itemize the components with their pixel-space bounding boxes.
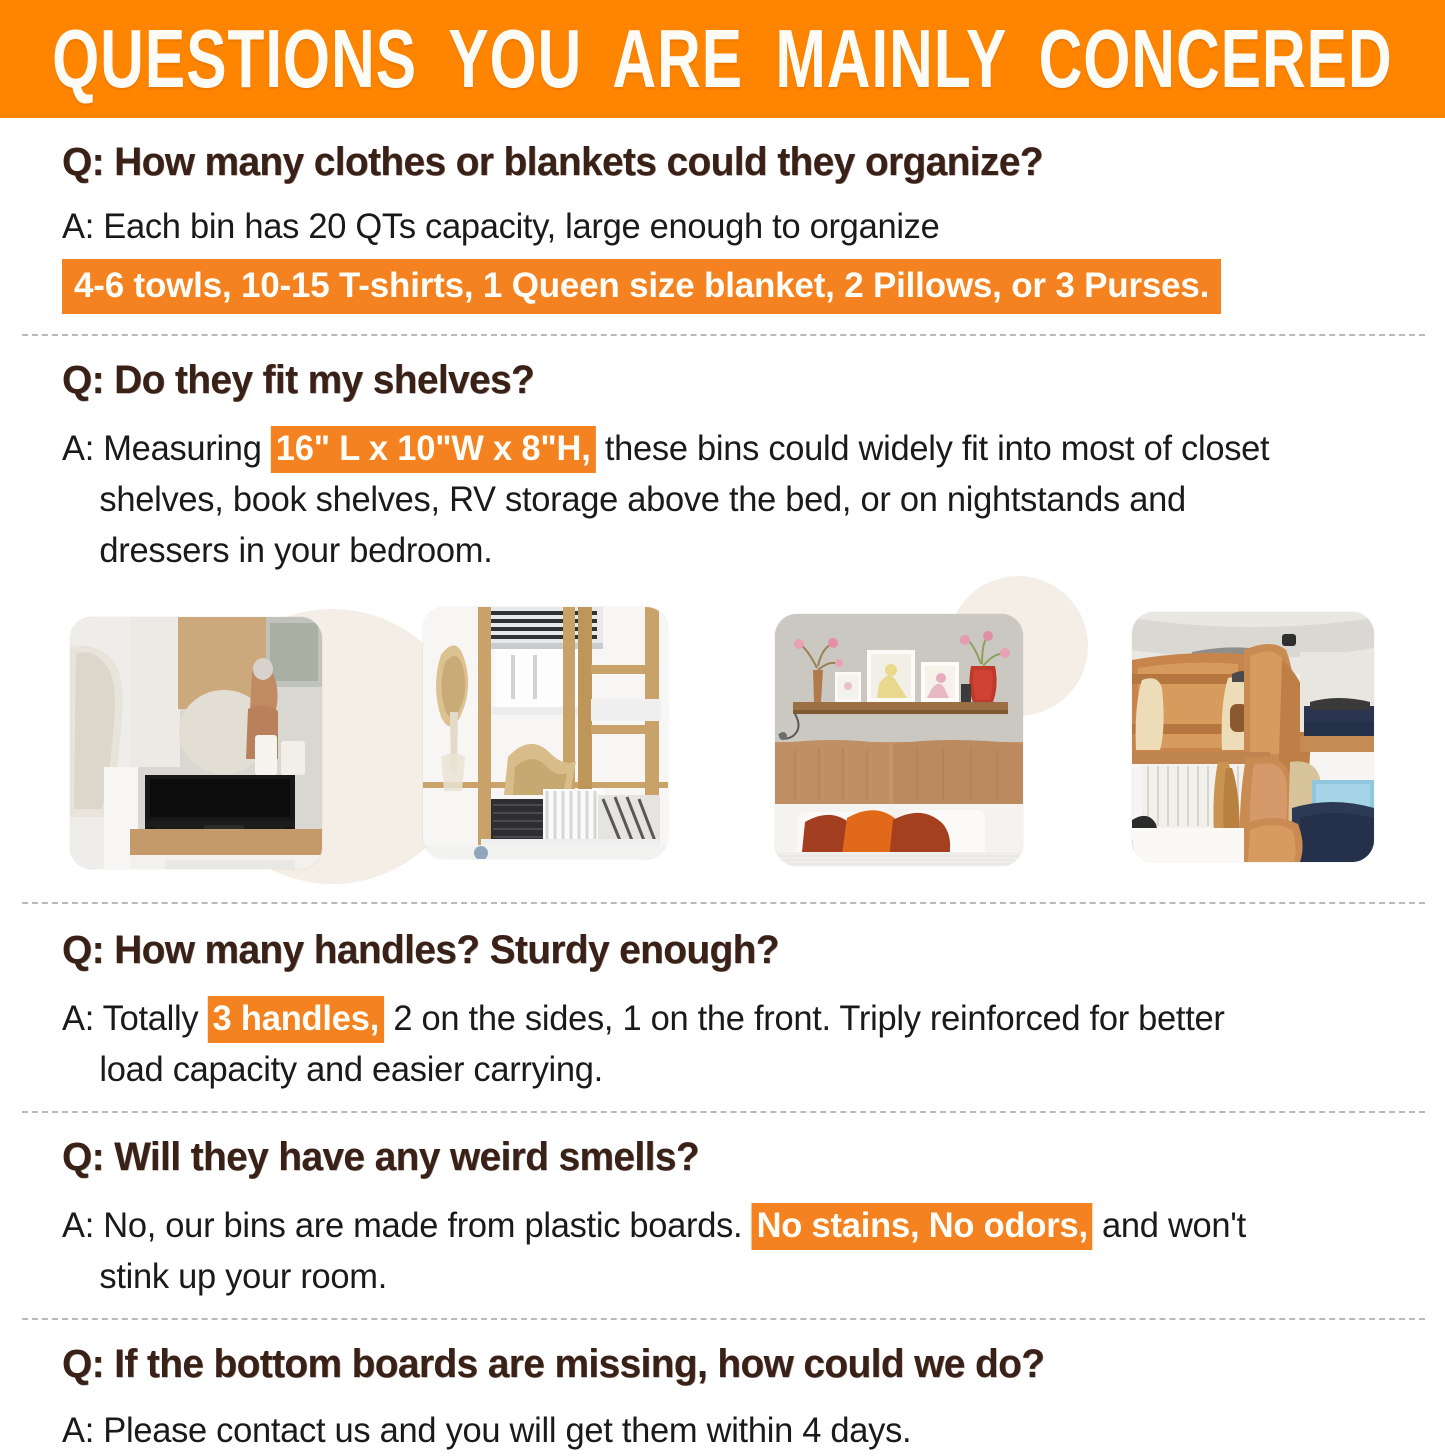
- faq-answer-highlight-bar: 4-6 towls, 10-15 T-shirts, 1 Queen size …: [62, 259, 1221, 314]
- faq-answer-prefix: A: Totally: [62, 999, 208, 1038]
- faq-item-shelf-fit: Q: Do they fit my shelves? A: Measuring …: [0, 336, 1445, 576]
- faq-question: Q: How many clothes or blankets could th…: [62, 140, 1382, 185]
- faq-answer-highlight: No stains, No odors,: [752, 1203, 1093, 1250]
- faq-answer-prefix: A: No, our bins are made from plastic bo…: [62, 1206, 752, 1245]
- faq-item-smells: Q: Will they have any weird smells? A: N…: [0, 1113, 1445, 1302]
- faq-answer: A: Please contact us and you will get th…: [62, 1405, 1403, 1456]
- photo-gallery: [0, 594, 1445, 884]
- photo-bamboo-shelf[interactable]: [423, 607, 668, 859]
- faq-answer-highlight: 3 handles,: [208, 996, 384, 1043]
- faq-answer-prefix: A: Measuring: [62, 429, 271, 468]
- photo-nightstand[interactable]: [70, 617, 322, 869]
- header-banner: QUESTIONS YOU ARE MAINLY CONCERED: [0, 0, 1445, 118]
- faq-question: Q: Will they have any weird smells?: [62, 1135, 1382, 1180]
- photo-bedroom-shelf[interactable]: [775, 614, 1023, 866]
- faq-question: Q: If the bottom boards are missing, how…: [62, 1342, 1382, 1387]
- faq-answer-line: load capacity and easier carrying.: [99, 1044, 603, 1095]
- faq-answer-line: A: Please contact us and you will get th…: [62, 1411, 911, 1450]
- faq-answer-suffix: and won't: [1093, 1206, 1246, 1245]
- faq-answer-line: stink up your room.: [99, 1251, 387, 1302]
- faq-answer: A: Each bin has 20 QTs capacity, large e…: [62, 201, 1403, 252]
- faq-answer: A: No, our bins are made from plastic bo…: [62, 1200, 1403, 1302]
- faq-item-bottom-boards: Q: If the bottom boards are missing, how…: [0, 1320, 1445, 1456]
- faq-item-handles: Q: How many handles? Sturdy enough? A: T…: [0, 904, 1445, 1095]
- faq-answer-suffix: these bins could widely fit into most of…: [596, 429, 1270, 468]
- nightstand-image: [70, 617, 322, 869]
- photo-rv-storage[interactable]: [1132, 612, 1374, 862]
- faq-question: Q: Do they fit my shelves?: [62, 358, 1382, 403]
- faq-content: Q: How many clothes or blankets could th…: [0, 118, 1445, 1456]
- faq-item-capacity: Q: How many clothes or blankets could th…: [0, 118, 1445, 314]
- rv-storage-image: [1132, 612, 1374, 862]
- faq-answer-line: shelves, book shelves, RV storage above …: [99, 474, 1185, 525]
- faq-answer-highlight: 16" L x 10"W x 8"H,: [271, 426, 596, 473]
- page-title: QUESTIONS YOU ARE MAINLY CONCERED: [52, 18, 1392, 101]
- faq-answer: A: Measuring 16" L x 10"W x 8"H, these b…: [62, 423, 1403, 576]
- faq-answer-line: A: Each bin has 20 QTs capacity, large e…: [62, 207, 940, 246]
- faq-question: Q: How many handles? Sturdy enough?: [62, 928, 1382, 973]
- bamboo-shelf-image: [423, 607, 668, 859]
- faq-answer-line: dressers in your bedroom.: [99, 525, 492, 576]
- bedroom-shelf-image: [775, 614, 1023, 866]
- faq-answer-suffix: 2 on the sides, 1 on the front. Triply r…: [384, 999, 1224, 1038]
- faq-answer: A: Totally 3 handles, 2 on the sides, 1 …: [62, 993, 1403, 1095]
